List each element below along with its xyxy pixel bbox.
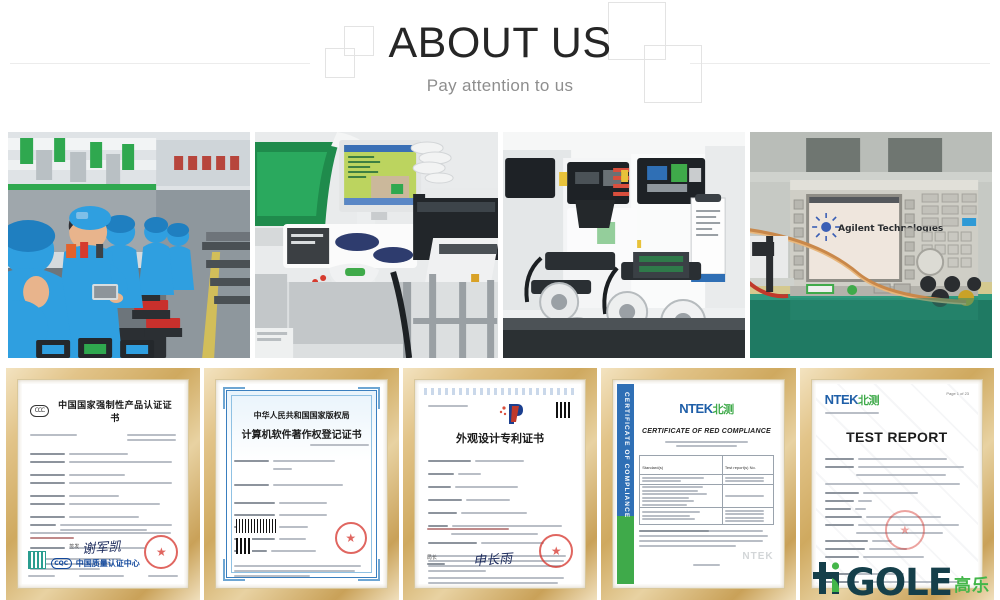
assembly-line-illustration [8,132,250,358]
certificate-title: CERTIFICATE OF RED COMPLIANCE [639,428,773,435]
certificate-ntek-test-report[interactable]: NTEK北测 Page 1 of 23 TEST REPORT [800,368,994,600]
qr-code-icon [28,551,46,569]
about-us-page: ABOUT US Pay attention to us Production … [0,0,1000,600]
cqc-badge-icon: CQC [51,558,72,569]
barcode-icon [236,519,276,533]
table-row [640,484,773,508]
red-seal-stamp-icon [144,535,178,569]
compliance-sidebar: CERTIFICATE OF COMPLIANCE [617,384,634,584]
ntek-brand: NTEK北测 [639,400,773,418]
page-header: ABOUT US Pay attention to us [0,0,1000,122]
ntek-brand-cn: 北测 [713,404,734,416]
table-row [640,475,773,485]
photo-assembly-line-workers: Production assembly line with workers in… [8,132,250,358]
ccc-badge-icon: CCC [30,405,49,417]
photo-agilent-test-equipment: Agilent Technologies RF test instrument … [750,132,992,358]
photo-pick-and-place-machines: Row of SMT pick-and-place machines with … [503,132,745,358]
frame-inner: CCC 中国国家强制性产品认证证书 [17,379,189,589]
certificate-ccc-product-certification[interactable]: CCC 中国国家强制性产品认证证书 [6,368,200,600]
issuer-name: 中国质量认证中心 [76,558,140,569]
ccc-header: CCC 中国国家强制性产品认证证书 [30,398,176,424]
certificate-paper: 外观设计专利证书 [419,384,581,584]
higole-mark-icon [813,558,843,598]
higole-chinese-name: 高乐 [954,578,990,595]
certificate-title: TEST REPORT [825,429,969,445]
higole-logo: GOLE 高乐 [813,558,990,598]
ntek-footer-watermark: NTEK [639,551,773,562]
certificate-paper: CCC 中国国家强制性产品认证证书 [22,384,184,584]
certificate-paper: 中华人民共和国国家版权局 计算机软件著作权登记证书 [220,384,382,584]
certificates-row: CCC 中国国家强制性产品认证证书 [6,368,994,600]
signature-label: 局长 [427,554,445,561]
certificate-ntek-red-compliance[interactable]: CERTIFICATE OF COMPLIANCE NTEK北测 CERTIFI… [601,368,795,600]
factory-photo-strip: Production assembly line with workers in… [8,132,992,358]
certificate-title-line1: 中华人民共和国国家版权局 [234,410,368,421]
header-title-block: ABOUT US Pay attention to us [0,0,1000,96]
page-subtitle: Pay attention to us [0,76,1000,96]
table-row [640,508,773,525]
signature-label: 签发 [69,543,79,550]
standards-table: Standard(s) Test report(s) No. [639,455,773,525]
issuer-row: CQC 中国质量认证中心 [46,558,144,569]
red-seal-stamp-icon [885,510,925,550]
page-label: Page 1 of 23 [946,391,969,396]
certificate-paper: CERTIFICATE OF COMPLIANCE NTEK北测 CERTIFI… [617,384,779,584]
certificate-software-copyright[interactable]: 中华人民共和国国家版权局 计算机软件著作权登记证书 [204,368,398,600]
smt-machine-illustration [255,132,497,358]
table-header-standards: Standard(s) [642,465,663,470]
qr-code-icon [236,538,252,554]
photo-smt-inspection-machine: SMT inspection machine with computer mon… [255,132,497,358]
qr-code-icon [556,402,572,418]
certificate-title-line2: 计算机软件著作权登记证书 [234,426,368,441]
frame-inner: 外观设计专利证书 [414,379,586,589]
frame-inner: 中华人民共和国国家版权局 计算机软件著作权登记证书 [215,379,387,589]
ntek-brand-cn: 北测 [858,395,879,407]
signature: 谢军凯 [82,536,122,558]
ntek-brand-text: NTEK [679,401,712,416]
page-title: ABOUT US [0,22,1000,65]
patent-logo-icon [499,402,525,424]
red-seal-stamp-icon [539,534,573,568]
table-header-reports: Test report(s) No. [725,465,756,470]
higole-wordmark: GOLE [845,567,952,598]
frame-inner: CERTIFICATE OF COMPLIANCE NTEK北测 CERTIFI… [612,379,784,589]
certificate-title: 中国国家强制性产品认证证书 [54,398,177,424]
agilent-instrument-illustration: Agilent Technologies [750,132,992,358]
red-seal-stamp-icon [335,522,367,554]
ntek-brand-text: NTEK [825,392,858,407]
certificate-design-patent[interactable]: 外观设计专利证书 [403,368,597,600]
pick-and-place-illustration [503,132,745,358]
certificate-paper: NTEK北测 Page 1 of 23 TEST REPORT [816,384,978,584]
signature: 申长雨 [472,548,512,570]
certificate-title: 外观设计专利证书 [428,430,572,446]
sidebar-label: CERTIFICATE OF COMPLIANCE [623,392,630,518]
